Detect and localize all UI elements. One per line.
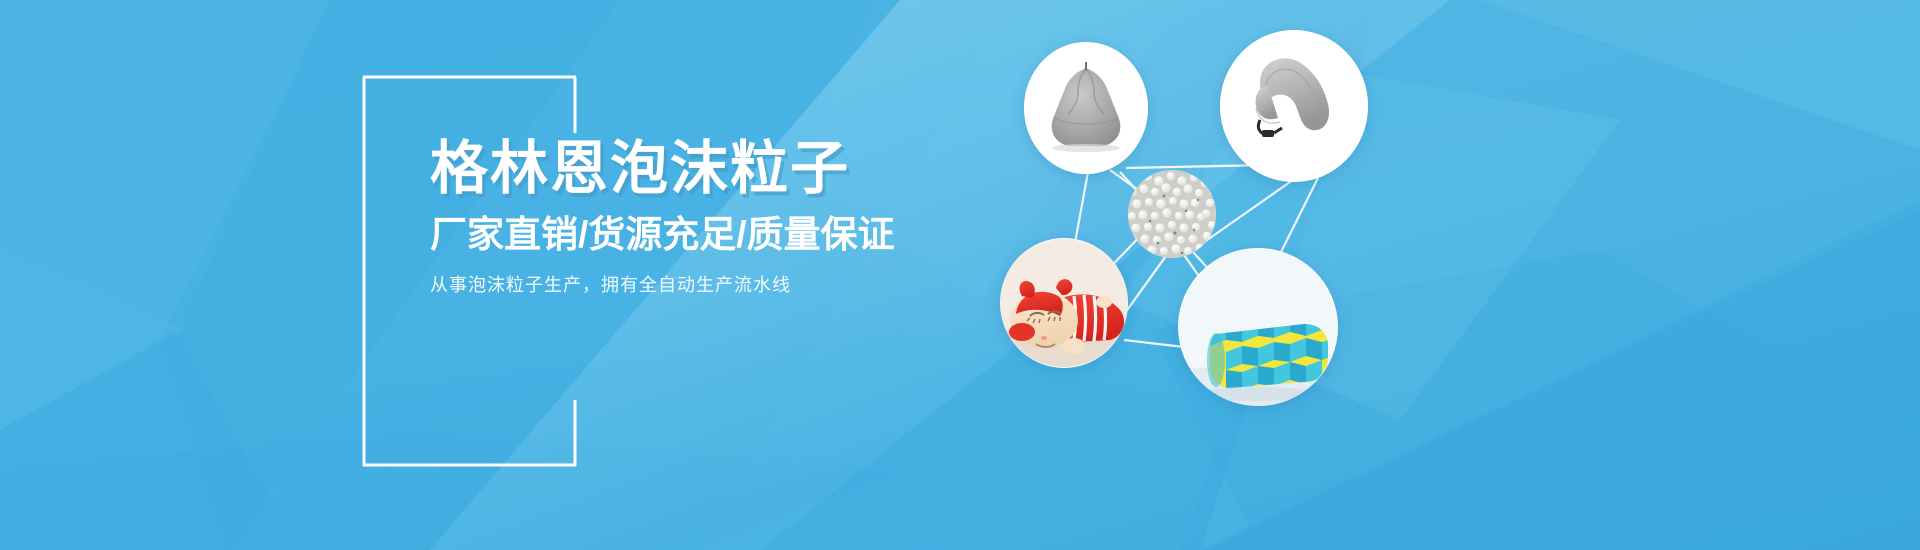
product-node-neck-pillow[interactable] <box>1220 30 1368 182</box>
product-node-checkered-cushion[interactable] <box>1178 248 1338 406</box>
product-node-pig-plush[interactable] <box>1000 238 1128 368</box>
description-text: 从事泡沫粒子生产，拥有全自动生产流水线 <box>430 275 1050 297</box>
checkered-roll-cushion-icon <box>1178 248 1338 406</box>
headline-block: 格林恩泡沫粒子 厂家直销/货源充足/质量保证 从事泡沫粒子生产，拥有全自动生产流… <box>430 140 1050 296</box>
bean-bag-chair-icon <box>1024 42 1148 174</box>
pig-plush-toy-icon <box>1000 238 1128 368</box>
page-title: 格林恩泡沫粒子 <box>430 140 1050 198</box>
product-node-bean-bag-chair[interactable] <box>1024 42 1148 174</box>
promo-banner: 格林恩泡沫粒子 厂家直销/货源充足/质量保证 从事泡沫粒子生产，拥有全自动生产流… <box>0 0 1920 550</box>
eps-foam-beads-icon <box>1128 170 1216 258</box>
product-cluster <box>1000 20 1560 440</box>
u-shaped-neck-pillow-icon <box>1220 30 1368 182</box>
product-node-foam-beads[interactable] <box>1128 170 1216 258</box>
subtitle: 厂家直销/货源充足/质量保证 <box>430 216 1050 255</box>
